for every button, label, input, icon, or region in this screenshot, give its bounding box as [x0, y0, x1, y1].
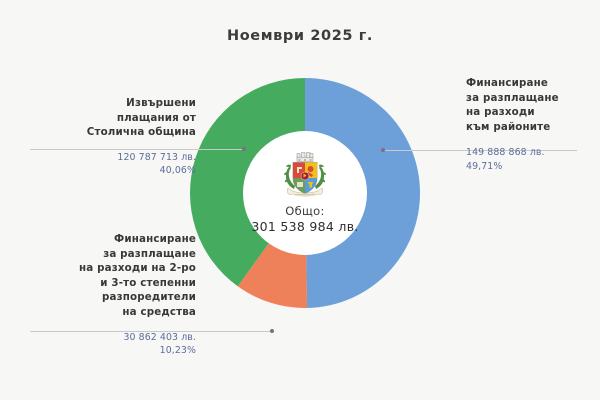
callout-bottom-left: Финансиране за разплащане на разходи на … [4, 232, 196, 357]
donut-chart-svg [190, 78, 420, 308]
callout-top-left-percent: 40,06% [6, 164, 196, 177]
callout-bottom-left-title-line: разпоредители [4, 290, 196, 305]
callout-top-left: Извършени плащания от Столична община 12… [6, 96, 196, 178]
callout-bottom-left-title: Финансиране за разплащане на разходи на … [4, 232, 196, 320]
callout-right-title-line: Финансиране [466, 76, 594, 91]
callout-top-left-title: Извършени плащания от Столична община [6, 96, 196, 140]
callout-top-left-title-line: плащания от [6, 111, 196, 126]
callout-top-left-title-line: Столична община [6, 125, 196, 140]
callout-right-title: Финансиране за разплащане на разходи към… [466, 76, 594, 134]
callout-bottom-left-title-line: за разплащане [4, 247, 196, 262]
callout-bottom-left-title-line: и 3-то степенни [4, 276, 196, 291]
callout-right-percent: 49,71% [466, 160, 594, 173]
page-title: Ноември 2025 г. [0, 28, 600, 44]
callout-top-left-title-line: Извършени [6, 96, 196, 111]
donut-chart [190, 78, 420, 308]
callout-bottom-left-title-line: на средства [4, 305, 196, 320]
callout-right-title-line: за разплащане [466, 91, 594, 106]
callout-right-title-line: към районите [466, 120, 594, 135]
chart-page: Ноември 2025 г. [0, 0, 600, 400]
callout-right-title-line: на разходи [466, 105, 594, 120]
donut-center-hole [243, 131, 367, 255]
callout-right-value: 149 888 868 лв. [466, 146, 594, 159]
leader-dot-top-left [242, 147, 246, 151]
callout-top-left-values: 120 787 713 лв. 40,06% [6, 151, 196, 178]
callout-bottom-left-value: 30 862 403 лв. [4, 331, 196, 344]
callout-right-values: 149 888 868 лв. 49,71% [466, 146, 594, 173]
callout-bottom-left-percent: 10,23% [4, 344, 196, 357]
callout-top-left-value: 120 787 713 лв. [6, 151, 196, 164]
callout-right: Финансиране за разплащане на разходи към… [466, 76, 594, 173]
callout-bottom-left-values: 30 862 403 лв. 10,23% [4, 331, 196, 358]
leader-dot-right [381, 148, 385, 152]
callout-bottom-left-title-line: Финансиране [4, 232, 196, 247]
callout-bottom-left-title-line: на разходи на 2-ро [4, 261, 196, 276]
leader-dot-bottom-left [270, 329, 274, 333]
